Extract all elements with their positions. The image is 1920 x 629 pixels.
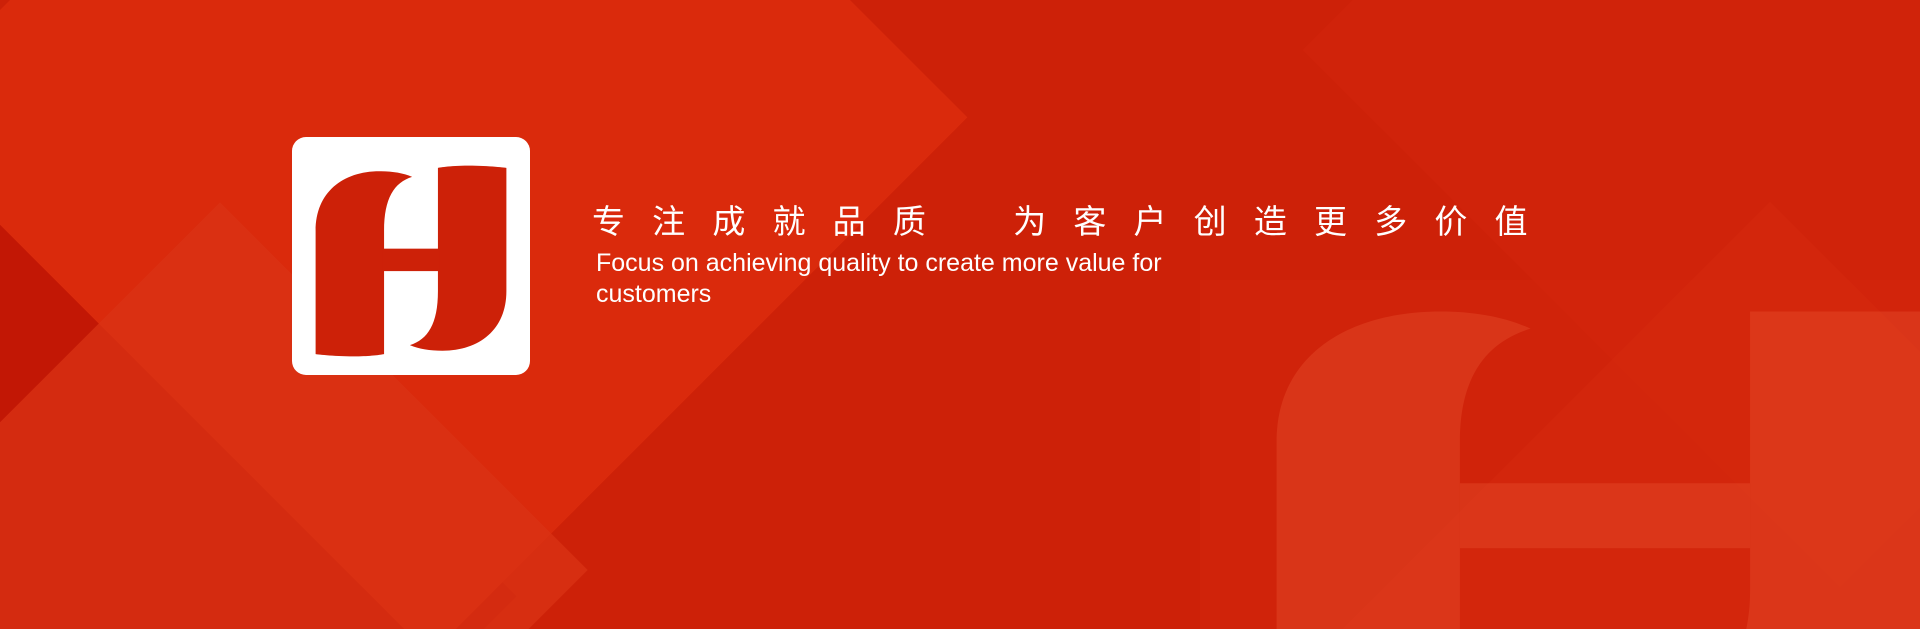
background-decoration [0, 0, 1920, 629]
company-logo-tile [292, 137, 530, 375]
company-monogram-icon [310, 165, 512, 357]
banner-headline-chinese: 专 注 成 就 品 质 为 客 户 创 造 更 多 价 值 [592, 200, 1412, 244]
banner-subtitle-english: Focus on achieving quality to create mor… [592, 248, 1236, 310]
hero-banner: 专 注 成 就 品 质 为 客 户 创 造 更 多 价 值 Focus on a… [0, 0, 1920, 629]
banner-text-block: 专 注 成 就 品 质 为 客 户 创 造 更 多 价 值 Focus on a… [592, 200, 1412, 310]
